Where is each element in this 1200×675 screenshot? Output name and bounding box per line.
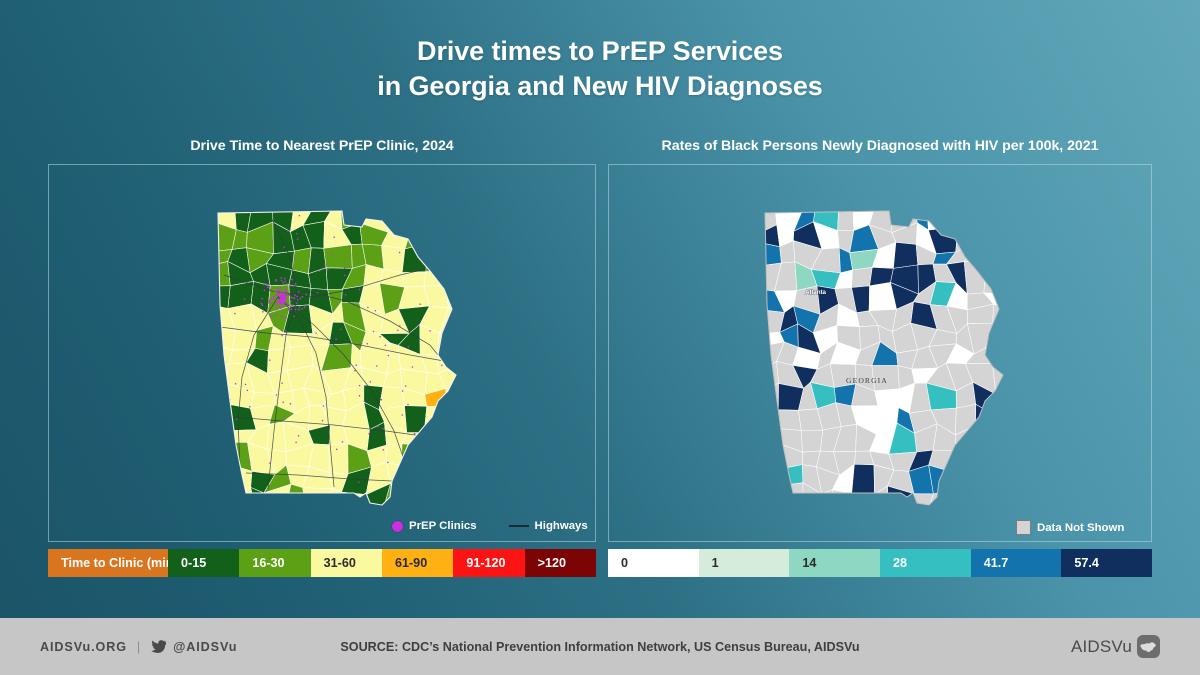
prep-clinic-point [424, 488, 426, 490]
right-map-panel: Atlanta GEORGIA Data Not Shown [608, 164, 1152, 542]
prep-clinic-point [262, 304, 264, 306]
prep-clinic-point [279, 298, 285, 304]
prep-clinic-point [315, 332, 317, 334]
prep-clinic-point [364, 400, 366, 402]
prep-clinic-point [417, 445, 419, 447]
prep-clinic-point [387, 462, 389, 464]
prep-clinic-point [249, 406, 251, 408]
prep-clinic-point [289, 294, 291, 296]
county-polygon[interactable] [973, 446, 994, 474]
prep-clinic-point [290, 308, 292, 310]
prep-clinic-point [276, 290, 278, 292]
county-polygon[interactable] [893, 242, 918, 268]
prep-clinic-point [407, 404, 409, 406]
georgia-drive-time-choropleth[interactable] [194, 205, 514, 517]
county-polygon[interactable] [852, 464, 875, 494]
prep-clinic-point [300, 297, 302, 299]
prep-clinic-point [273, 296, 275, 298]
county-polygon[interactable] [986, 241, 1009, 263]
prep-clinic-point [344, 275, 346, 277]
prep-clinic-point [410, 454, 412, 456]
county-polygon[interactable] [444, 442, 462, 466]
prep-clinic-point [245, 384, 247, 386]
prep-clinic-point [373, 331, 375, 333]
prep-clinic-point [405, 473, 407, 475]
prep-clinic-point [368, 433, 370, 435]
county-polygon[interactable] [418, 464, 447, 493]
county-polygon[interactable] [342, 492, 366, 509]
prep-clinic-point [412, 366, 414, 368]
prep-clinic-point [403, 215, 405, 217]
county-polygon[interactable] [426, 243, 446, 272]
prep-clinic-point [267, 287, 269, 289]
prep-clinic-point [282, 401, 284, 403]
prep-clinic-point [295, 309, 297, 311]
prep-clinic-point [277, 292, 279, 294]
prep-clinic-point [317, 292, 319, 294]
prep-clinic-point [271, 302, 273, 304]
prep-clinic-point [299, 215, 301, 217]
county-polygon[interactable] [984, 470, 1009, 491]
county-polygon[interactable] [875, 389, 900, 408]
county-polygon[interactable] [801, 430, 823, 452]
prep-clinic-point [264, 289, 266, 291]
prep-clinic-point [296, 233, 298, 235]
prep-clinic-point [324, 263, 326, 265]
prep-clinic-point [340, 329, 342, 331]
prep-clinic-point [298, 309, 300, 311]
prep-clinic-point [281, 306, 283, 308]
county-polygon[interactable] [838, 207, 854, 231]
legend-bin-91-120[interactable]: 91-120 [453, 549, 524, 577]
legend-data-not-shown-label: Data Not Shown [1037, 522, 1124, 534]
prep-clinic-point [327, 269, 329, 271]
county-polygon[interactable] [759, 429, 781, 453]
prep-clinic-point [290, 403, 292, 405]
prep-clinic-point [282, 282, 284, 284]
county-polygon[interactable] [986, 229, 1009, 248]
county-polygon[interactable] [418, 207, 449, 228]
county-polygon[interactable] [442, 223, 462, 248]
prep-clinic-point [322, 420, 324, 422]
prep-clinic-point [268, 284, 270, 286]
prep-clinic-point [281, 296, 283, 298]
prep-clinic-point [284, 281, 286, 283]
prep-clinic-point [284, 246, 286, 248]
prep-clinic-point [262, 311, 264, 313]
legend-title-cell: Time to Clinic (min) [48, 549, 168, 577]
prep-clinic-point [285, 330, 287, 332]
prep-clinic-point [275, 295, 277, 297]
prep-clinic-point [376, 365, 378, 367]
page-title: Drive times to PrEP Services in Georgia … [0, 34, 1200, 103]
prep-clinic-point [358, 481, 360, 483]
prep-clinic-point [247, 390, 249, 392]
drive-time-county-fills [212, 207, 462, 509]
prep-clinic-point [276, 301, 278, 303]
county-polygon[interactable] [759, 485, 783, 509]
county-polygon[interactable] [303, 488, 333, 509]
prep-clinic-point [399, 252, 401, 254]
prep-clinic-point [266, 283, 268, 285]
right-map-inline-legend: Data Not Shown [1016, 520, 1124, 535]
legend-prep-clinics-label: PrEP Clinics [409, 520, 477, 532]
prep-clinic-point [336, 449, 338, 451]
prep-clinic-point [304, 306, 306, 308]
hiv-rate-map[interactable]: Atlanta GEORGIA [609, 165, 1151, 541]
prep-clinic-point [335, 338, 337, 340]
prep-clinic-point [234, 313, 236, 315]
prep-clinic-point [286, 303, 288, 305]
prep-clinic-point [359, 385, 361, 387]
prep-clinic-point [276, 309, 278, 311]
data-not-shown-swatch-icon [1016, 520, 1031, 535]
legend-bin--120[interactable]: >120 [525, 549, 596, 577]
county-polygon[interactable] [212, 404, 226, 433]
county-polygon[interactable] [292, 248, 311, 274]
prep-clinic-point [367, 343, 369, 345]
prep-clinic-point [388, 355, 390, 357]
prep-clinic-point [399, 325, 401, 327]
county-polygon[interactable] [852, 267, 873, 287]
page-title-line-2: in Georgia and New HIV Diagnoses [0, 69, 1200, 104]
prep-clinic-point [278, 298, 280, 300]
county-polygon[interactable] [424, 271, 446, 286]
georgia-hiv-rate-choropleth[interactable]: Atlanta GEORGIA [741, 205, 1061, 517]
prep-clinic-point [379, 336, 381, 338]
county-polygon[interactable] [914, 494, 933, 509]
aidsvu-logo[interactable]: AIDSVu [1071, 635, 1160, 658]
county-polygon[interactable] [984, 261, 1009, 294]
prep-clinic-point [283, 416, 285, 418]
prep-clinic-point [275, 314, 277, 316]
prep-clinic-point [269, 462, 271, 464]
prep-clinic-point [269, 300, 271, 302]
county-polygon[interactable] [993, 304, 1009, 328]
footer-bar: AIDSVu.ORG | @AIDSVu SOURCE: CDC’s Natio… [0, 618, 1200, 675]
prep-clinic-point [284, 295, 286, 297]
prep-clinic-point [441, 365, 443, 367]
legend-bin-0[interactable]: 0 [608, 549, 699, 577]
prep-clinic-point [296, 302, 298, 304]
prep-clinic-point [382, 428, 384, 430]
drive-time-legend-scale[interactable]: Time to Clinic (min)0-1516-3031-6061-909… [48, 549, 596, 577]
county-polygon[interactable] [445, 246, 462, 271]
county-polygon[interactable] [852, 494, 875, 509]
prep-clinic-point [295, 442, 297, 444]
county-polygon[interactable] [964, 261, 986, 294]
prep-clinic-point [293, 315, 295, 317]
prep-clinic-point [331, 255, 333, 257]
prep-clinic-point [298, 435, 300, 437]
prep-clinic-point [326, 361, 328, 363]
prep-clinic-point [273, 298, 275, 300]
county-polygon[interactable] [329, 444, 348, 474]
prep-clinic-point [281, 316, 283, 318]
county-polygon[interactable] [442, 207, 462, 224]
prep-clinic-point [356, 364, 358, 366]
legend-bin-14[interactable]: 14 [789, 549, 880, 577]
county-polygon[interactable] [950, 471, 976, 490]
prep-clinic-point [305, 294, 307, 296]
county-polygon[interactable] [927, 207, 958, 230]
prep-clinic-point [301, 308, 303, 310]
county-polygon[interactable] [774, 483, 803, 509]
legend-bin-57-4[interactable]: 57.4 [1061, 549, 1152, 577]
prep-clinic-point [298, 291, 300, 293]
prep-clinic-point [281, 291, 283, 293]
prep-clinic-point [354, 370, 356, 372]
prep-clinic-point [397, 330, 399, 332]
prep-clinic-point [345, 294, 347, 296]
county-polygon[interactable] [446, 389, 462, 415]
prep-clinic-point [279, 306, 281, 308]
county-polygon[interactable] [969, 207, 995, 234]
prep-clinic-point [288, 309, 290, 311]
prep-clinic-point [281, 335, 283, 337]
prep-clinic-point [295, 283, 297, 285]
county-polygon[interactable] [439, 488, 462, 509]
prep-clinic-point [279, 292, 281, 294]
county-polygon[interactable] [418, 223, 446, 248]
prep-clinic-point [290, 297, 292, 299]
legend-bin-1[interactable]: 1 [699, 549, 790, 577]
prep-clinic-point [429, 330, 431, 332]
prep-clinic-point [269, 359, 271, 361]
county-polygon[interactable] [446, 285, 462, 308]
prep-clinic-point [294, 258, 296, 260]
county-polygon[interactable] [951, 207, 975, 228]
prep-clinic-point [291, 304, 293, 306]
atlanta-label: Atlanta [805, 289, 827, 296]
county-polygon[interactable] [759, 444, 781, 474]
prep-clinic-point [344, 267, 346, 269]
county-polygon[interactable] [976, 426, 991, 455]
prep-clinic-point [279, 287, 281, 289]
prep-clinic-point [284, 289, 286, 291]
prep-clinic-point [381, 399, 383, 401]
prep-clinic-point [319, 270, 321, 272]
prep-clinic-point [286, 283, 288, 285]
us-map-badge-icon [1137, 635, 1160, 658]
county-polygon[interactable] [424, 423, 447, 445]
county-polygon[interactable] [984, 405, 1009, 431]
county-polygon[interactable] [445, 264, 462, 286]
legend-bin-0-15[interactable]: 0-15 [168, 549, 239, 577]
county-polygon[interactable] [418, 488, 449, 509]
prep-clinic-point [276, 394, 278, 396]
hiv-rate-legend-scale[interactable]: 01142841.757.4 [608, 549, 1152, 577]
county-polygon[interactable] [439, 464, 462, 491]
prep-clinic-point [297, 238, 299, 240]
prep-clinic-point [279, 289, 281, 291]
prep-clinic-point [281, 382, 283, 384]
prep-clinic-point [284, 293, 286, 295]
prep-clinic-point [385, 345, 387, 347]
prep-clinic-point [438, 419, 440, 421]
prep-clinic-point [427, 462, 429, 464]
county-polygon[interactable] [212, 383, 226, 411]
legend-bin-28[interactable]: 28 [880, 549, 971, 577]
us-map-icon [1140, 641, 1157, 653]
prep-clinic-point [280, 307, 282, 309]
prep-clinic-point [294, 294, 296, 296]
county-polygon[interactable] [233, 330, 257, 350]
prep-clinic-point [220, 264, 222, 266]
prep-clinic-point [361, 343, 363, 345]
legend-data-not-shown: Data Not Shown [1016, 520, 1124, 535]
left-map-inline-legend: PrEP Clinics Highways [392, 520, 588, 532]
prep-clinic-point [423, 486, 425, 488]
left-map-subtitle: Drive Time to Nearest PrEP Clinic, 2024 [48, 138, 596, 154]
prep-clinic-point [444, 270, 446, 272]
prep-clinic-point [418, 324, 420, 326]
prep-clinic-point [275, 304, 277, 306]
legend-bin-41-7[interactable]: 41.7 [971, 549, 1062, 577]
prep-clinic-point [274, 290, 276, 292]
county-polygon[interactable] [212, 442, 235, 463]
county-polygon[interactable] [973, 472, 994, 489]
county-polygon[interactable] [402, 444, 428, 470]
county-polygon[interactable] [984, 424, 1009, 455]
prep-clinic-point [333, 236, 335, 238]
prep-clinic-point [377, 426, 379, 428]
right-map-subtitle: Rates of Black Persons Newly Diagnosed w… [608, 138, 1152, 154]
prep-clinic-point [268, 302, 270, 304]
county-polygon[interactable] [424, 406, 447, 432]
prep-clinic-point [290, 301, 292, 303]
prep-clinic-point [281, 280, 283, 282]
prep-clinic-point [249, 461, 251, 463]
prep-clinic-point [284, 317, 286, 319]
prep-clinic-point [286, 294, 288, 296]
prep-clinic-point [296, 296, 298, 298]
prep-clinic-point [267, 308, 269, 310]
prep-clinic-dot-icon [392, 521, 403, 532]
prep-clinic-point [299, 306, 301, 308]
prep-clinic-point [302, 296, 304, 298]
prep-clinic-point [433, 217, 435, 219]
county-polygon[interactable] [212, 431, 235, 449]
prep-clinic-point [434, 455, 436, 457]
legend-prep-clinics: PrEP Clinics [392, 520, 477, 532]
county-polygon[interactable] [970, 487, 988, 509]
county-polygon[interactable] [759, 406, 778, 433]
county-polygon[interactable] [427, 442, 447, 470]
prep-clinic-point [275, 279, 277, 281]
county-polygon[interactable] [949, 489, 976, 509]
county-polygon[interactable] [402, 466, 428, 493]
prep-clinic-point [367, 307, 369, 309]
county-polygon[interactable] [402, 433, 428, 446]
prep-clinic-point [405, 385, 407, 387]
prep-clinic-point [292, 297, 294, 299]
footer-source-text: SOURCE: CDC’s National Prevention Inform… [0, 640, 1200, 654]
county-polygon[interactable] [976, 404, 991, 430]
county-polygon[interactable] [984, 487, 1009, 509]
county-polygon[interactable] [409, 207, 427, 233]
prep-clinic-point [270, 316, 272, 318]
infographic-canvas: Drive times to PrEP Services in Georgia … [0, 0, 1200, 675]
prep-clinic-point [402, 414, 404, 416]
county-polygon[interactable] [773, 465, 803, 486]
county-polygon[interactable] [324, 245, 353, 269]
page-title-line-1: Drive times to PrEP Services [0, 34, 1200, 69]
county-polygon[interactable] [447, 407, 462, 423]
prep-clinic-point [264, 283, 266, 285]
prep-clinic-point [284, 278, 286, 280]
county-polygon[interactable] [267, 422, 286, 452]
prep-clinic-point [414, 433, 416, 435]
prep-clinic-point [375, 310, 377, 312]
prep-clinic-point [402, 390, 404, 392]
prep-clinic-point [279, 296, 281, 298]
prep-clinic-point [289, 285, 291, 287]
legend-bin-31-60[interactable]: 31-60 [311, 549, 382, 577]
county-polygon[interactable] [956, 227, 976, 252]
legend-bin-16-30[interactable]: 16-30 [239, 549, 310, 577]
prep-clinic-point [408, 346, 410, 348]
hiv-rate-county-fills [759, 207, 1009, 509]
prep-clinic-point [261, 298, 263, 300]
county-polygon[interactable] [403, 484, 426, 509]
county-polygon[interactable] [444, 422, 462, 454]
county-polygon[interactable] [212, 286, 230, 309]
prep-clinic-point [260, 303, 262, 305]
aidsvu-logo-text: AIDSVu [1071, 637, 1132, 657]
county-polygon[interactable] [950, 446, 976, 474]
drive-time-map[interactable] [49, 165, 595, 541]
county-polygon[interactable] [969, 228, 994, 242]
prep-clinic-point [297, 299, 299, 301]
prep-clinic-point [293, 285, 295, 287]
prep-clinic-point [277, 294, 279, 296]
prep-clinic-point [291, 279, 293, 281]
county-polygon[interactable] [382, 245, 405, 272]
county-polygon[interactable] [991, 452, 1009, 472]
left-map-panel: PrEP Clinics Highways [48, 164, 596, 542]
prep-clinic-point [270, 297, 272, 299]
prep-clinic-point [236, 418, 238, 420]
prep-clinic-point [359, 289, 361, 291]
prep-clinic-point [323, 405, 325, 407]
prep-clinic-point [280, 277, 282, 279]
legend-bin-61-90[interactable]: 61-90 [382, 549, 453, 577]
county-polygon[interactable] [212, 491, 233, 509]
prep-clinic-point [285, 291, 287, 293]
georgia-label: GEORGIA [846, 376, 888, 385]
county-polygon[interactable] [405, 406, 427, 433]
prep-clinic-point [419, 303, 421, 305]
prep-clinic-point [359, 395, 361, 397]
prep-clinic-point [270, 289, 272, 291]
county-polygon[interactable] [405, 228, 429, 249]
legend-highways: Highways [509, 520, 588, 532]
highway-line-icon [509, 525, 529, 527]
county-polygon[interactable] [212, 462, 233, 494]
county-polygon[interactable] [759, 470, 783, 492]
legend-highways-label: Highways [535, 520, 588, 532]
prep-clinic-point [383, 449, 385, 451]
county-polygon[interactable] [964, 241, 986, 262]
prep-clinic-point [235, 383, 237, 385]
county-polygon[interactable] [212, 262, 230, 287]
county-polygon[interactable] [759, 225, 780, 247]
prep-clinic-point [230, 436, 232, 438]
county-polygon[interactable] [995, 207, 1010, 234]
prep-clinic-point [342, 441, 344, 443]
prep-clinic-point [277, 288, 279, 290]
